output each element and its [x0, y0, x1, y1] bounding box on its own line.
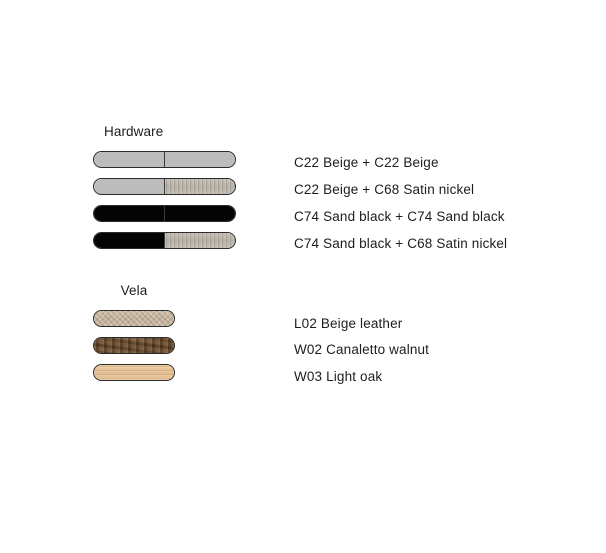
swatch-split-pill[interactable]: [93, 178, 236, 195]
legend-group-vela: Vela: [93, 283, 175, 391]
swatch-half-left: [94, 152, 164, 167]
swatch-half-right: [164, 152, 235, 167]
swatch-half-left: [94, 179, 164, 194]
swatch-solid-pill[interactable]: [93, 364, 175, 381]
legend-row[interactable]: [93, 151, 163, 178]
swatch-half-right: [164, 206, 235, 221]
legend-label-vela-3: W03 Light oak: [294, 368, 382, 385]
group-title-hardware: Hardware: [93, 124, 163, 140]
group-title-vela: Vela: [93, 283, 175, 299]
swatch-half-left: [94, 206, 164, 221]
swatch-solid-pill[interactable]: [93, 310, 175, 327]
swatch-fill: [94, 311, 174, 326]
material-legend: Hardware: [0, 0, 606, 553]
legend-row[interactable]: [93, 337, 175, 364]
legend-row[interactable]: [93, 364, 175, 391]
swatch-split-pill[interactable]: [93, 232, 236, 249]
legend-label-vela-2: W02 Canaletto walnut: [294, 341, 429, 358]
legend-row[interactable]: [93, 178, 163, 205]
legend-label-vela-1: L02 Beige leather: [294, 315, 402, 332]
legend-row[interactable]: [93, 205, 163, 232]
swatch-fill: [94, 365, 174, 380]
legend-label-hardware-1: C22 Beige + C22 Beige: [294, 154, 439, 171]
legend-label-hardware-4: C74 Sand black + C68 Satin nickel: [294, 235, 507, 252]
swatch-half-left: [94, 233, 164, 248]
swatch-solid-pill[interactable]: [93, 337, 175, 354]
legend-label-hardware-3: C74 Sand black + C74 Sand black: [294, 208, 505, 225]
swatch-half-right: [164, 179, 235, 194]
swatch-split-pill[interactable]: [93, 205, 236, 222]
swatch-split-pill[interactable]: [93, 151, 236, 168]
legend-label-hardware-2: C22 Beige + C68 Satin nickel: [294, 181, 474, 198]
swatch-rows-hardware: [93, 151, 163, 259]
legend-group-hardware: Hardware: [93, 124, 163, 259]
legend-row[interactable]: [93, 232, 163, 259]
swatch-fill: [94, 338, 174, 353]
swatch-half-right: [164, 233, 235, 248]
swatch-rows-vela: [93, 310, 175, 391]
legend-row[interactable]: [93, 310, 175, 337]
